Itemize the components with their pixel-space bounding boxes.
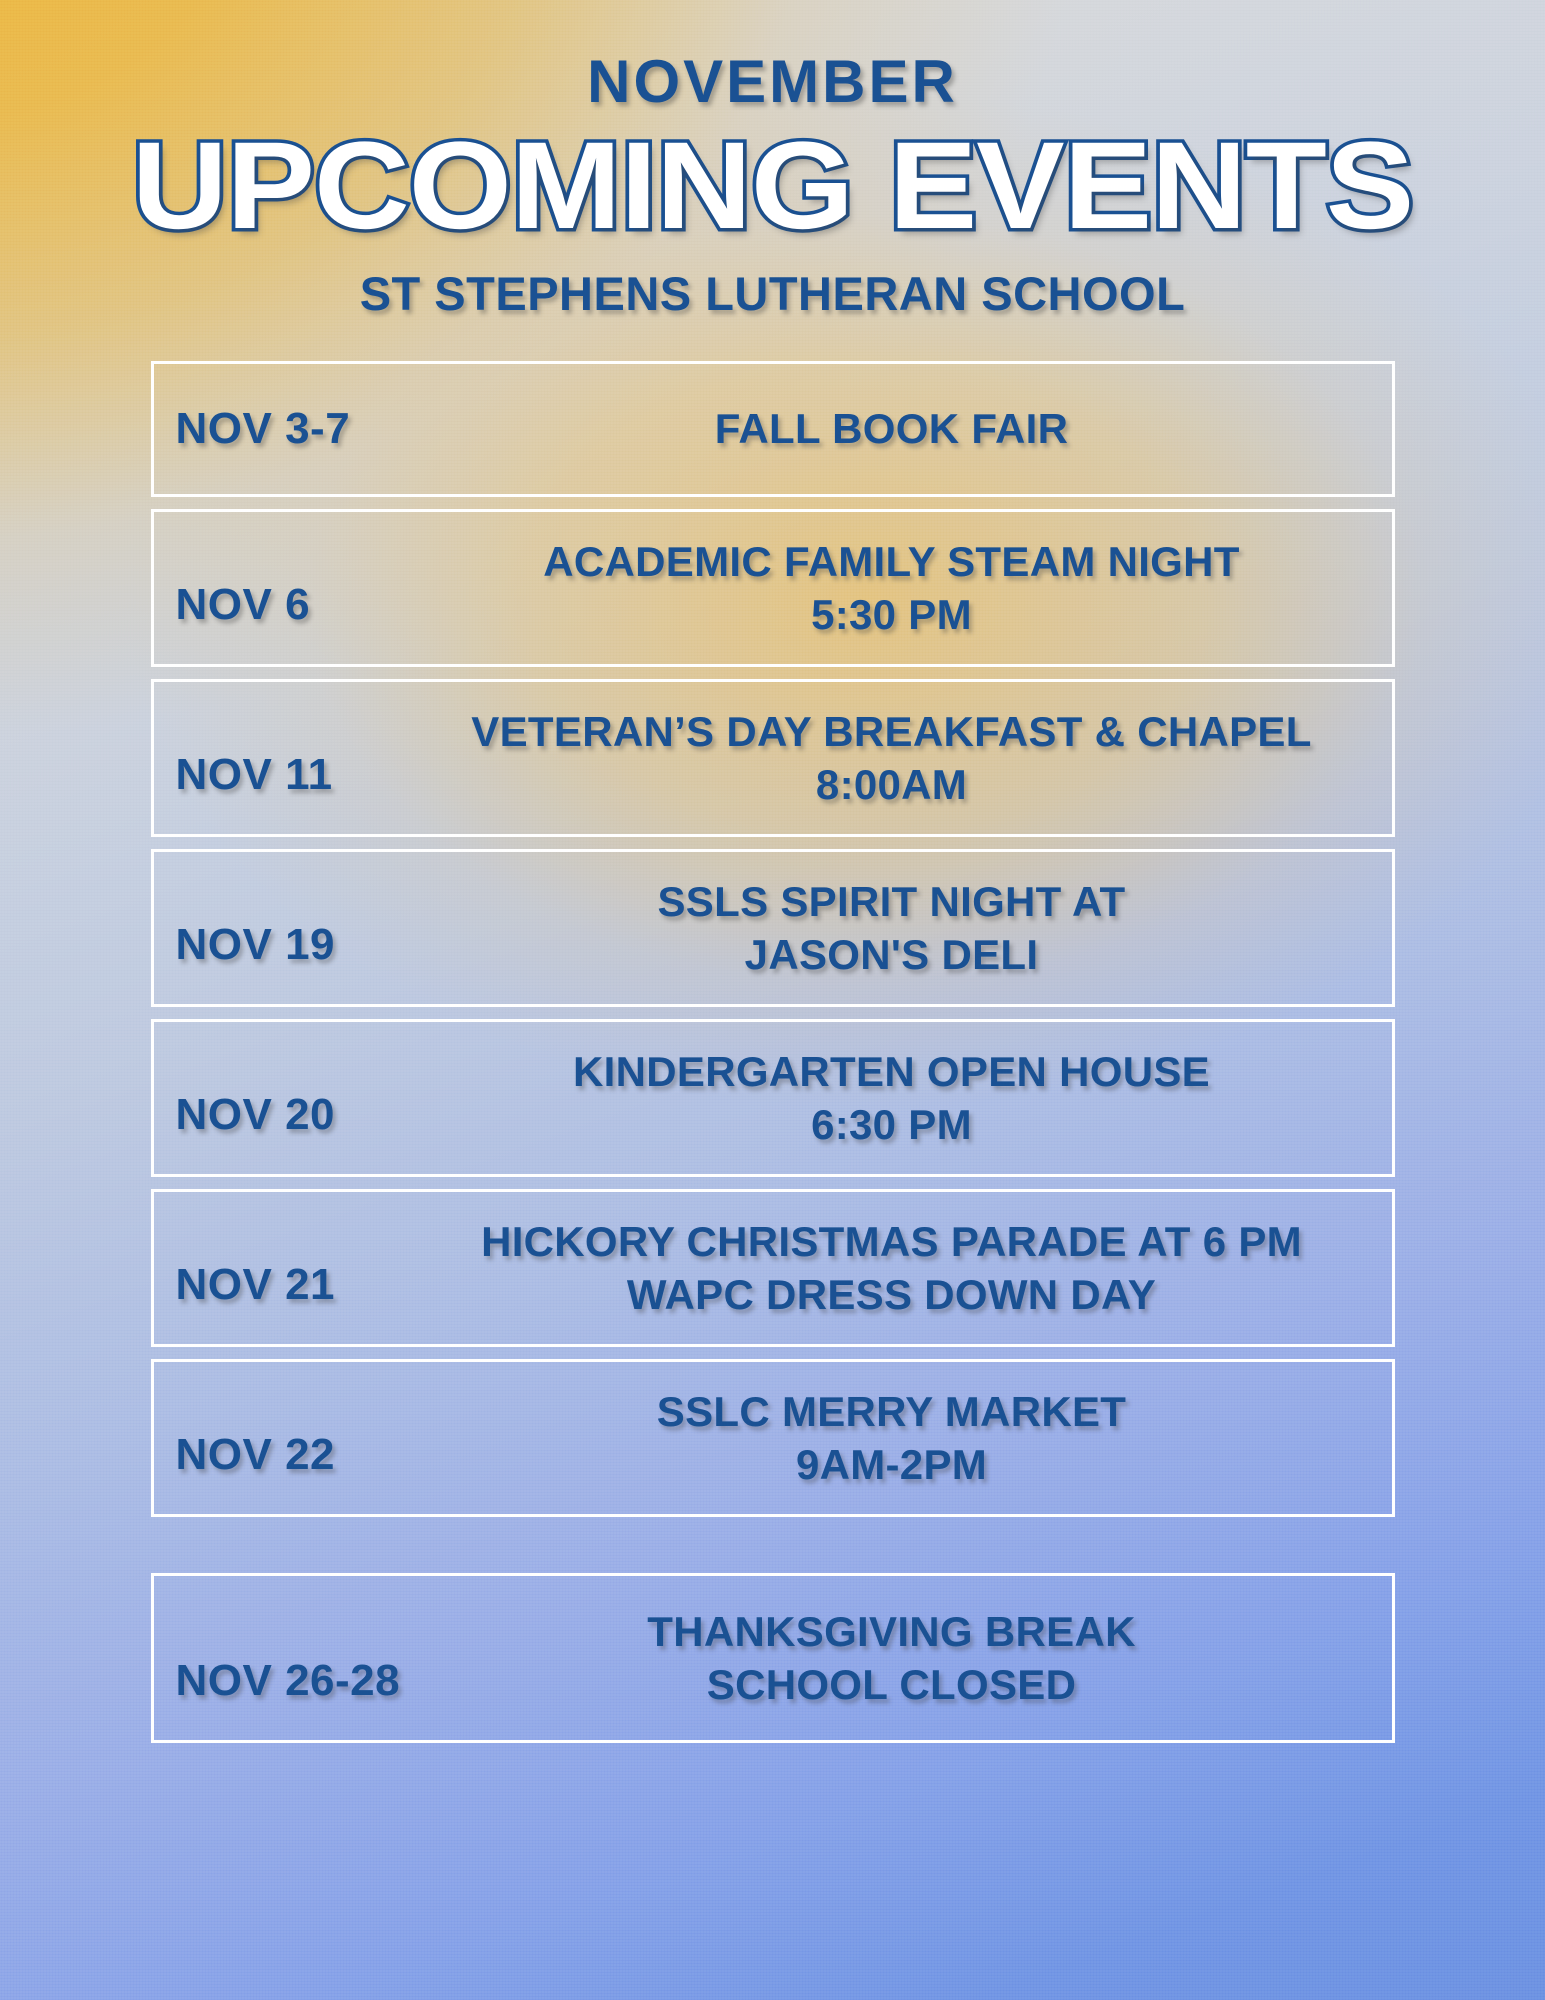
row-gap: [151, 1177, 1395, 1189]
event-title-line-2: WAPC DRESS DOWN DAY: [454, 1268, 1330, 1321]
event-row: NOV 11 VETERAN’S DAY BREAKFAST & CHAPEL …: [151, 679, 1395, 837]
event-title-line-1: HICKORY CHRISTMAS PARADE AT 6 PM: [454, 1215, 1330, 1268]
event-row: NOV 3-7 FALL BOOK FAIR: [151, 361, 1395, 497]
event-title-line-2: SCHOOL CLOSED: [454, 1658, 1330, 1711]
school-name: ST STEPHENS LUTHERAN SCHOOL: [0, 270, 1545, 317]
event-title-line-1: VETERAN’S DAY BREAKFAST & CHAPEL: [454, 705, 1330, 758]
page-title: UPCOMING EVENTS: [0, 124, 1545, 248]
event-title: THANKSGIVING BREAK SCHOOL CLOSED: [454, 1605, 1392, 1712]
event-title: ACADEMIC FAMILY STEAM NIGHT 5:30 PM: [454, 535, 1392, 642]
event-flyer-poster: NOVEMBER UPCOMING EVENTS ST STEPHENS LUT…: [0, 0, 1545, 2000]
events-list: NOV 3-7 FALL BOOK FAIR NOV 6 ACADEMIC FA…: [151, 361, 1395, 1743]
event-date: NOV 3-7: [154, 404, 454, 454]
event-title: HICKORY CHRISTMAS PARADE AT 6 PM WAPC DR…: [454, 1215, 1392, 1322]
event-title-line-1: KINDERGARTEN OPEN HOUSE: [454, 1045, 1330, 1098]
event-title-line-1: SSLS SPIRIT NIGHT AT: [454, 875, 1330, 928]
month-label: NOVEMBER: [0, 0, 1545, 112]
event-date: NOV 26-28: [154, 1656, 454, 1740]
row-gap: [151, 837, 1395, 849]
event-date: NOV 20: [154, 1090, 454, 1174]
event-date: NOV 21: [154, 1260, 454, 1344]
event-row: NOV 20 KINDERGARTEN OPEN HOUSE 6:30 PM: [151, 1019, 1395, 1177]
event-title-line-2: JASON'S DELI: [454, 928, 1330, 981]
event-title-line-1: THANKSGIVING BREAK: [454, 1605, 1330, 1658]
event-title-line-2: 5:30 PM: [454, 588, 1330, 641]
event-row: NOV 6 ACADEMIC FAMILY STEAM NIGHT 5:30 P…: [151, 509, 1395, 667]
event-title: VETERAN’S DAY BREAKFAST & CHAPEL 8:00AM: [454, 705, 1392, 812]
poster-content: NOVEMBER UPCOMING EVENTS ST STEPHENS LUT…: [0, 0, 1545, 1743]
poster-header: NOVEMBER UPCOMING EVENTS ST STEPHENS LUT…: [0, 0, 1545, 317]
event-row: NOV 19 SSLS SPIRIT NIGHT AT JASON'S DELI: [151, 849, 1395, 1007]
row-gap: [151, 667, 1395, 679]
event-row: NOV 21 HICKORY CHRISTMAS PARADE AT 6 PM …: [151, 1189, 1395, 1347]
event-title: SSLC MERRY MARKET 9AM-2PM: [454, 1385, 1392, 1492]
event-title: KINDERGARTEN OPEN HOUSE 6:30 PM: [454, 1045, 1392, 1152]
event-row: NOV 22 SSLC MERRY MARKET 9AM-2PM: [151, 1359, 1395, 1517]
event-title-line-1: FALL BOOK FAIR: [454, 402, 1330, 455]
event-row: NOV 26-28 THANKSGIVING BREAK SCHOOL CLOS…: [151, 1573, 1395, 1743]
event-date: NOV 22: [154, 1430, 454, 1514]
event-title-line-2: 8:00AM: [454, 758, 1330, 811]
row-gap: [151, 1007, 1395, 1019]
event-title-line-1: SSLC MERRY MARKET: [454, 1385, 1330, 1438]
event-date: NOV 11: [154, 750, 454, 834]
event-title-line-2: 6:30 PM: [454, 1098, 1330, 1151]
event-title: FALL BOOK FAIR: [454, 402, 1392, 455]
event-date: NOV 6: [154, 580, 454, 664]
event-date: NOV 19: [154, 920, 454, 1004]
event-title: SSLS SPIRIT NIGHT AT JASON'S DELI: [454, 875, 1392, 982]
row-gap: [151, 1517, 1395, 1573]
row-gap: [151, 1347, 1395, 1359]
row-gap: [151, 497, 1395, 509]
event-title-line-2: 9AM-2PM: [454, 1438, 1330, 1491]
event-title-line-1: ACADEMIC FAMILY STEAM NIGHT: [454, 535, 1330, 588]
